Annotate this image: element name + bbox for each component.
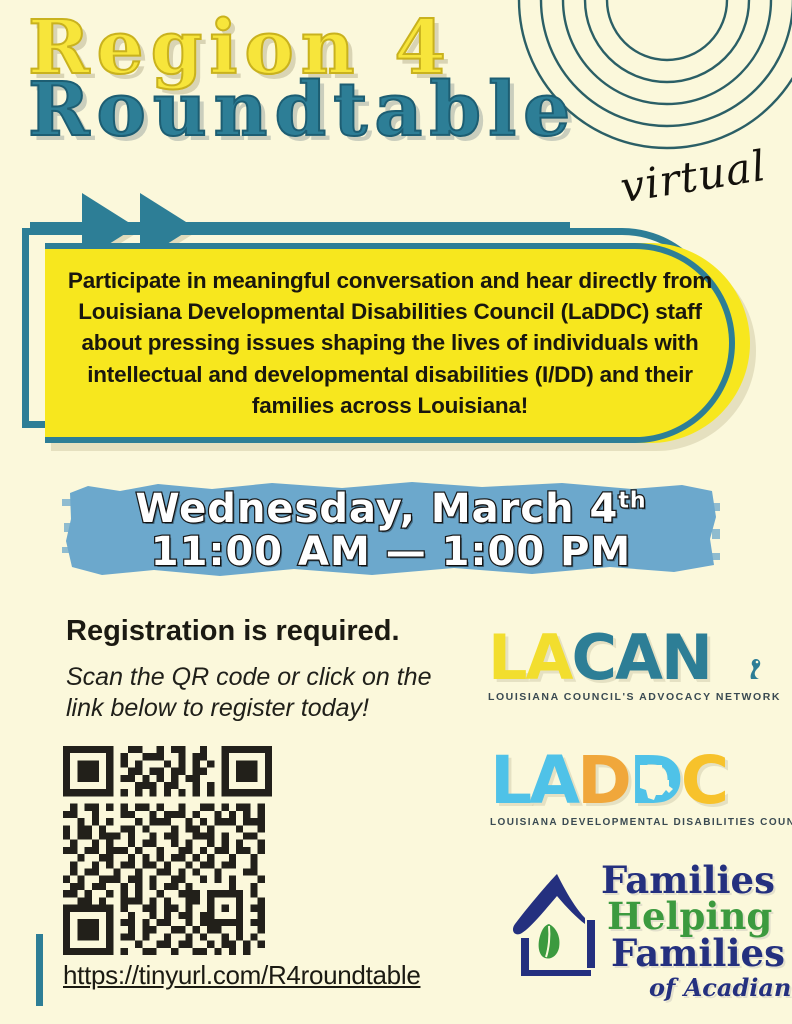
- lacan-wordmark-can: CAN: [572, 621, 711, 694]
- house-icon: [505, 868, 613, 988]
- laddc-logo: LADDC LOUISIANA DEVELOPMENTAL DISABILITI…: [490, 748, 770, 828]
- event-datetime: Wednesday, March 4th 11:00 AM — 1:00 PM: [62, 481, 720, 581]
- lacan-wordmark: LACAN: [488, 627, 768, 689]
- callout-body-text: Participate in meaningful conversation a…: [60, 258, 720, 428]
- laddc-wordmark-c: C: [681, 742, 726, 819]
- teal-accent-bar: [36, 934, 43, 1006]
- lacan-tagline: LOUISIANA COUNCIL'S ADVOCACY NETWORK: [488, 691, 768, 703]
- flyer-canvas: Region 4 Roundtable virtual Participate …: [0, 0, 792, 1024]
- qr-code[interactable]: [63, 746, 272, 955]
- lacan-logo: LACAN LOUISIANA COUNCIL'S ADVOCACY NETWO…: [488, 627, 768, 703]
- families-helping-families-logo: Families Helping Families of Acadiana: [505, 862, 780, 1012]
- fhf-line-families-1: Families: [601, 862, 786, 898]
- laddc-wordmark-d1: D: [577, 742, 629, 819]
- virtual-badge: virtual: [617, 141, 770, 212]
- fhf-line-of-acadiana: of Acadiana: [649, 973, 786, 1002]
- event-date-line: Wednesday, March 4th: [135, 488, 646, 531]
- pelican-icon: [746, 657, 766, 683]
- fhf-line-families-2: Families: [611, 935, 786, 971]
- fhf-line-helping: Helping: [607, 898, 786, 934]
- page-title: Region 4 Roundtable: [28, 14, 728, 144]
- fhf-wordmark: Families Helping Families of Acadiana: [601, 862, 786, 1002]
- laddc-wordmark: LADDC: [490, 748, 770, 814]
- event-date: Wednesday, March 4: [135, 486, 618, 532]
- louisiana-state-icon: [636, 762, 676, 804]
- registration-instructions: Scan the QR code or click on the link be…: [66, 662, 456, 725]
- registration-heading: Registration is required.: [66, 615, 400, 648]
- laddc-wordmark-la: LA: [490, 742, 577, 819]
- event-date-ordinal: th: [618, 488, 646, 513]
- lacan-wordmark-la: LA: [488, 621, 572, 694]
- title-line-roundtable: Roundtable: [28, 76, 728, 144]
- registration-link[interactable]: https://tinyurl.com/R4roundtable: [63, 960, 420, 991]
- event-time: 11:00 AM — 1:00 PM: [151, 531, 631, 574]
